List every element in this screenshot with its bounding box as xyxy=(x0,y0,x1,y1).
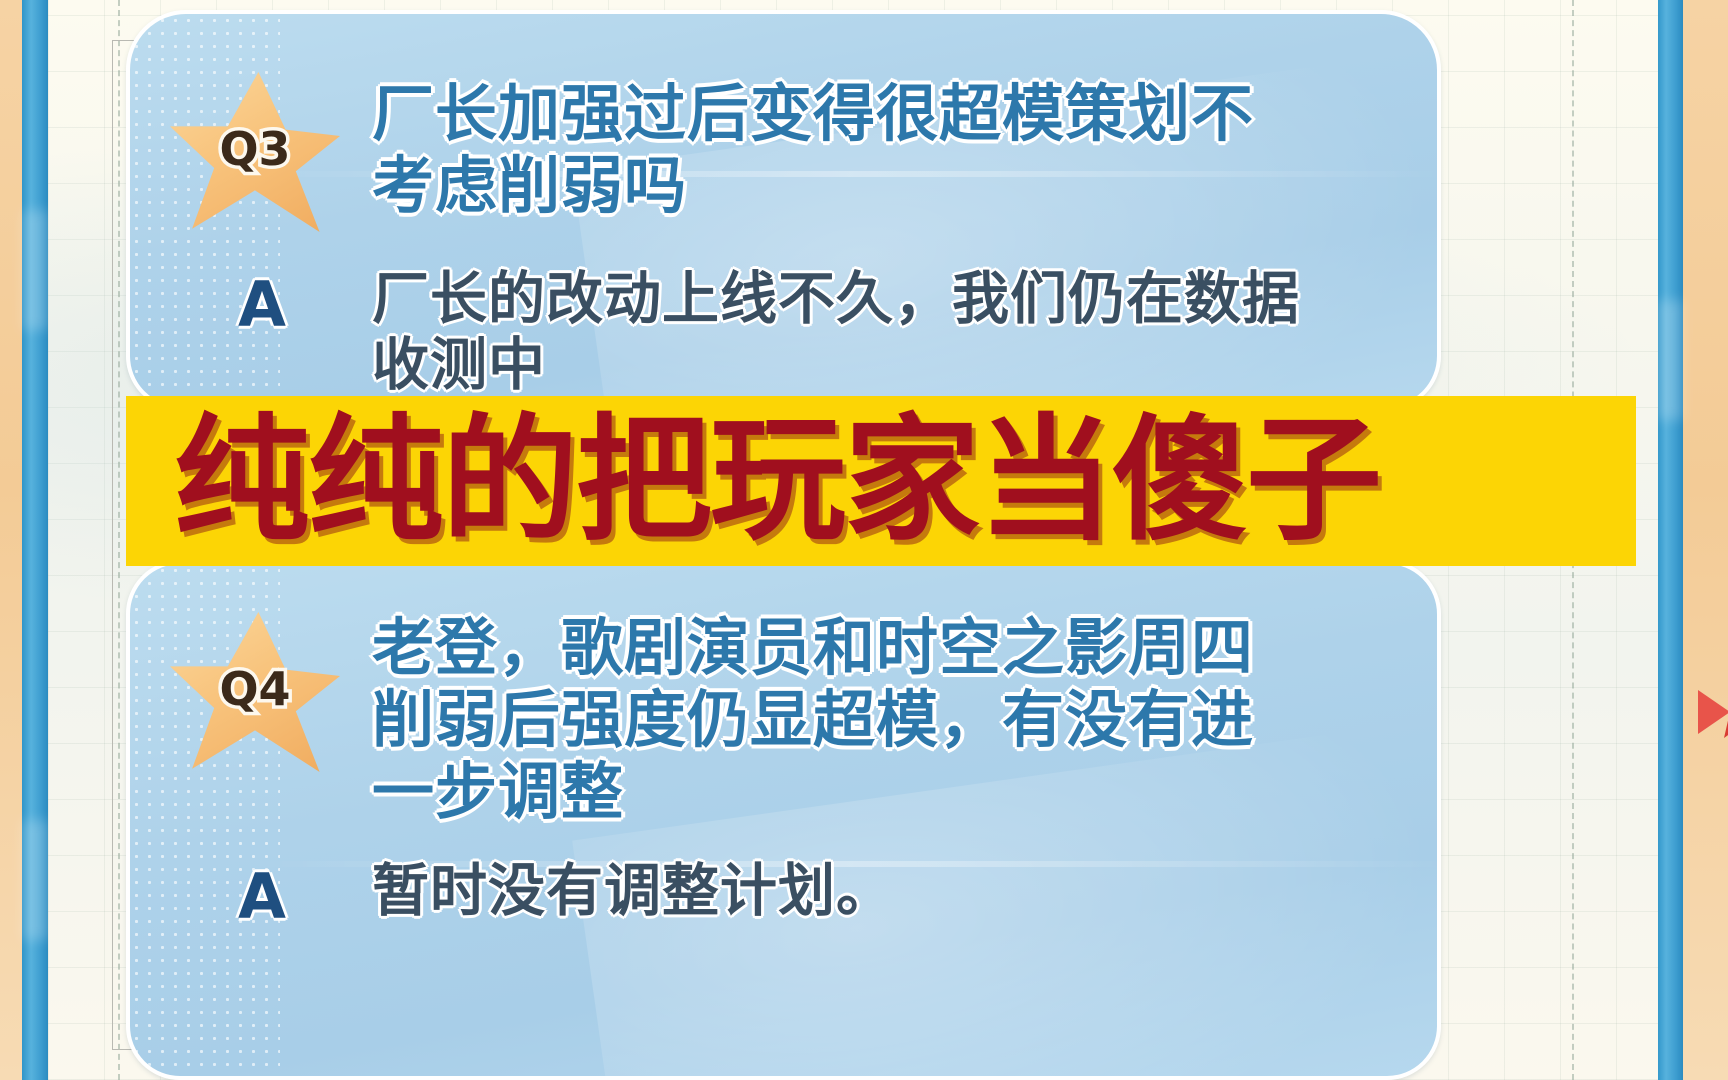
question-line: 厂长加强过后变得很超模策划不 xyxy=(372,78,1462,150)
ribbon-highlight xyxy=(1657,300,1683,420)
answer-label-q4: A xyxy=(238,860,286,933)
ribbon-highlight xyxy=(22,820,48,940)
question-line: 一步调整 xyxy=(372,756,1462,828)
answer-line: 收测中 xyxy=(372,332,1462,398)
question-text-q3: 厂长加强过后变得很超模策划不 考虑削弱吗 xyxy=(372,78,1462,222)
overlay-banner-text: 纯纯的把玩家当傻子 xyxy=(174,413,1380,549)
red-ribbon-mark-icon xyxy=(1694,686,1728,756)
overlay-banner: 纯纯的把玩家当傻子 xyxy=(126,396,1636,566)
question-line: 考虑削弱吗 xyxy=(372,150,1462,222)
star-badge-q3: Q3 xyxy=(170,72,340,232)
right-blue-ribbon xyxy=(1657,0,1683,1080)
answer-line: 厂长的改动上线不久，我们仍在数据 xyxy=(372,266,1462,332)
left-blue-ribbon xyxy=(22,0,48,1080)
star-badge-label: Q4 xyxy=(170,662,340,716)
answer-text-q4: 暂时没有调整计划。 xyxy=(372,858,1462,924)
ribbon-highlight xyxy=(22,210,48,330)
page-background: Q3 厂长加强过后变得很超模策划不 考虑削弱吗 A 厂长的改动上线不久，我们仍在… xyxy=(0,0,1728,1080)
answer-label-q3: A xyxy=(238,268,286,341)
answer-line: 暂时没有调整计划。 xyxy=(372,858,1462,924)
question-line: 老登，歌剧演员和时空之影周四 xyxy=(372,612,1462,684)
question-text-q4: 老登，歌剧演员和时空之影周四 削弱后强度仍显超模，有没有进 一步调整 xyxy=(372,612,1462,828)
star-badge-q4: Q4 xyxy=(170,612,340,772)
star-badge-label: Q3 xyxy=(170,122,340,176)
answer-text-q3: 厂长的改动上线不久，我们仍在数据 收测中 xyxy=(372,266,1462,398)
question-line: 削弱后强度仍显超模，有没有进 xyxy=(372,684,1462,756)
